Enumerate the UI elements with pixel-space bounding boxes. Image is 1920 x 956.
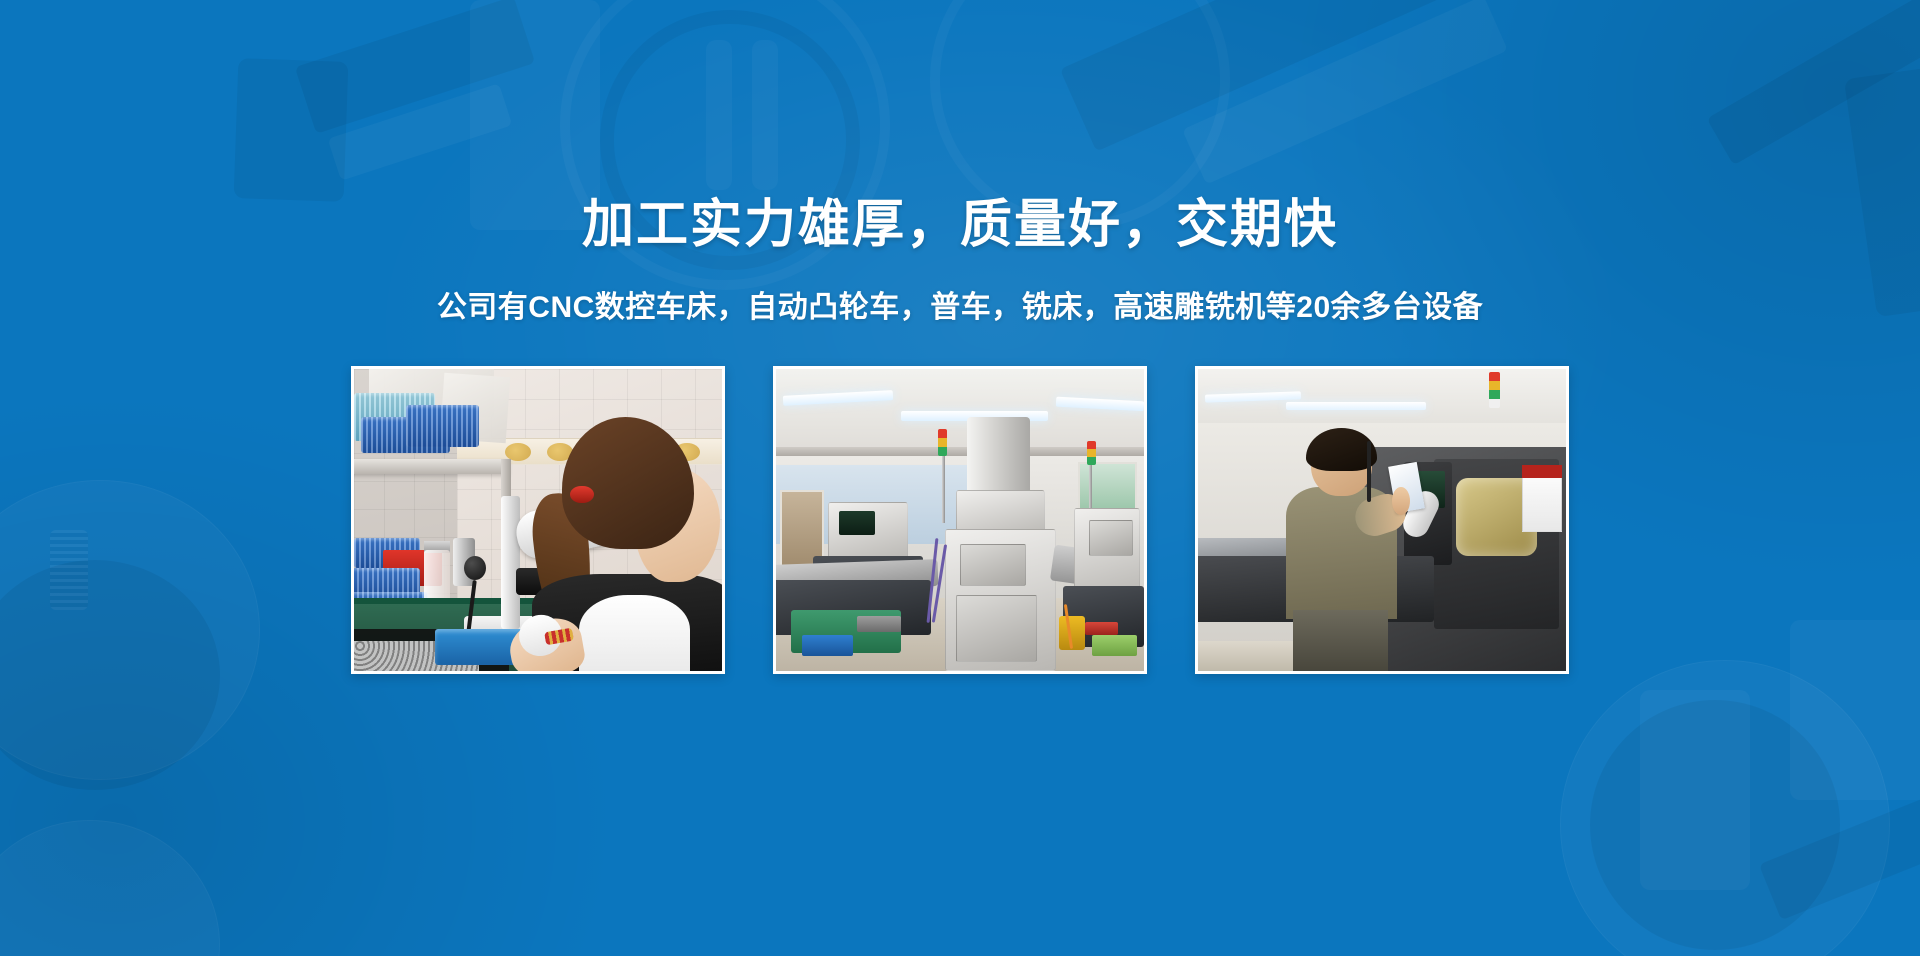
photo-quality-inspection — [354, 369, 722, 671]
p1-basket-blue-shelf — [406, 405, 480, 447]
photo-card-operator-machine[interactable] — [1195, 366, 1569, 674]
photo-gallery — [351, 366, 1569, 674]
photo-card-quality-inspection[interactable] — [351, 366, 725, 674]
photo-operator-machine — [1198, 369, 1566, 671]
p3-light-tube-center — [1286, 402, 1426, 410]
p3-operator-hair — [1306, 428, 1377, 470]
p2-machine-center-panel — [960, 544, 1026, 586]
p2-cart-tool-grey — [857, 616, 901, 631]
p2-machine-center-door — [956, 595, 1037, 661]
p3-operator-hand — [1392, 487, 1410, 515]
p3-operator-pants — [1293, 610, 1388, 671]
p3-cable-bundle — [1367, 441, 1371, 501]
p2-green-tray — [1092, 635, 1136, 656]
p2-machine-left-screen — [839, 511, 876, 535]
p2-signal-light-center — [938, 429, 947, 456]
p2-red-tray — [1085, 622, 1118, 634]
p2-signal-pole-center — [942, 450, 945, 522]
p1-hair-tie — [570, 486, 593, 504]
p3-operator — [1286, 435, 1396, 671]
p3-signal-light — [1489, 372, 1500, 408]
p1-inspector — [523, 417, 722, 671]
p1-white-shirt — [579, 595, 690, 671]
p2-signal-light-right — [1087, 441, 1096, 465]
banner-content: 加工实力雄厚，质量好，交期快 公司有CNC数控车床，自动凸轮车，普车，铣床，高速… — [0, 0, 1920, 956]
p2-machine-right-panel — [1089, 520, 1133, 556]
p1-shelf-board — [354, 459, 509, 474]
p3-notice-header — [1522, 465, 1562, 477]
photo-card-cnc-workshop[interactable] — [773, 366, 1147, 674]
p2-chip-collector-cylinder — [967, 417, 1030, 496]
page-title: 加工实力雄厚，质量好，交期快 — [582, 196, 1338, 256]
photo-cnc-workshop — [776, 369, 1144, 671]
p1-hair — [562, 417, 694, 549]
page-subtitle: 公司有CNC数控车床，自动凸轮车，普车，铣床，高速雕铣机等20余多台设备 — [437, 282, 1483, 326]
p2-cart-tray-blue — [802, 635, 854, 656]
p1-microscope-column — [501, 496, 519, 629]
